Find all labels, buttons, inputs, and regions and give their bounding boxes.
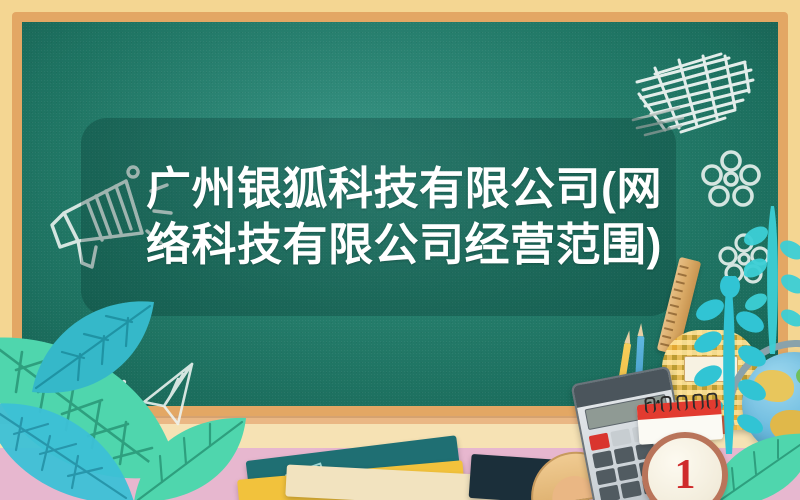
calculator-key [620,481,641,499]
flower-icon [700,148,762,210]
title-line-1: 广州银狐科技有限公司(网 [146,161,662,217]
calculator-key [592,450,613,468]
magnifier-number: 1 [675,454,696,496]
title-line-2: 络科技有限公司经营范围) [146,217,662,273]
illustration-canvas: 广州银狐科技有限公司(网 络科技有限公司经营范围) [0,0,800,500]
calendar-ring [706,392,718,409]
calculator-key [589,433,610,451]
leaf-mint-lower-left [132,414,252,500]
calculator-key [595,467,616,485]
calculator-key [617,463,638,481]
leaf-cyan-mid-left [28,296,156,404]
calendar-ring [692,393,704,410]
calculator-key [599,485,620,500]
calendar-ring [660,396,672,413]
calculator-key [610,428,631,446]
calendar-ring [676,394,688,411]
leaf-teal-bottom-left [0,398,138,500]
fern-teal-far-right [744,206,800,356]
calendar-ring [644,397,656,414]
page-title: 广州银狐科技有限公司(网 络科技有限公司经营范围) [92,120,662,314]
calculator-key [613,446,634,464]
